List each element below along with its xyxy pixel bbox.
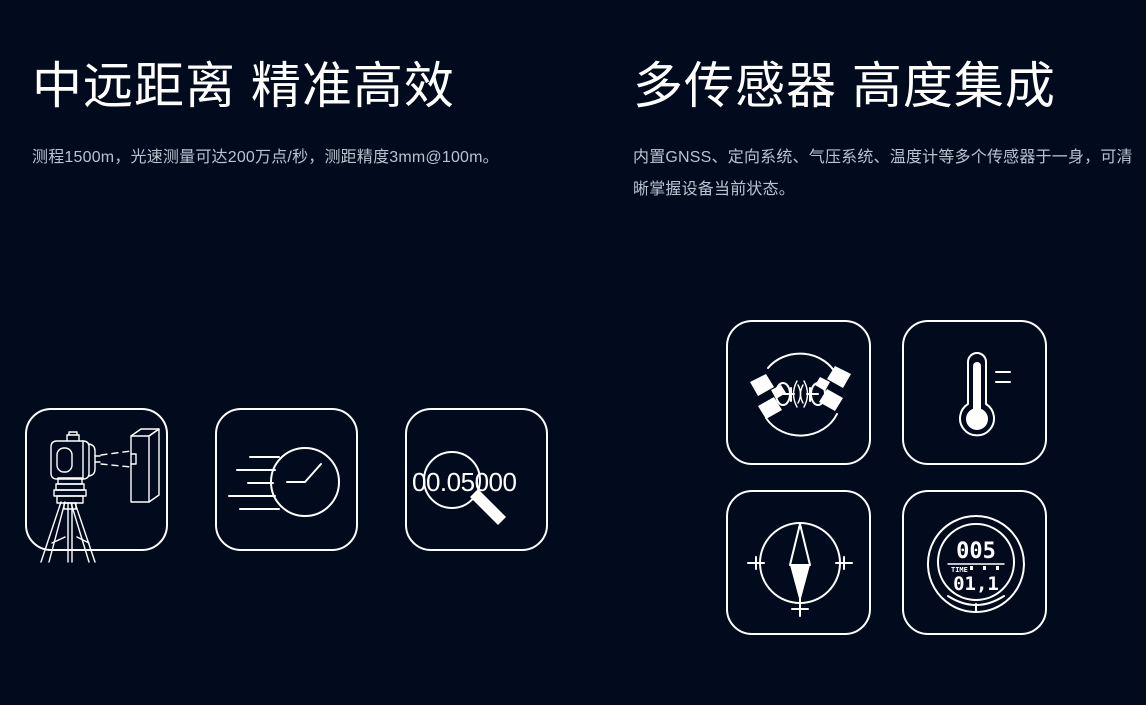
left-text-column: 中远距离 精准高效 测程1500m，光速测量可达200万点/秒，测距精度3mm@… [32, 58, 552, 174]
right-body-text: 内置GNSS、定向系统、气压系统、温度计等多个传感器于一身，可清晰掌握设备当前状… [633, 114, 1133, 206]
gnss-satellite-icon [726, 320, 871, 465]
thermometer-icon [902, 320, 1047, 465]
barometer-gauge-icon: 005 TIME 01,1 [902, 490, 1047, 635]
feature-panel: 中远距离 精准高效 测程1500m，光速测量可达200万点/秒，测距精度3mm@… [0, 0, 1146, 705]
laser-scanner-tripod-icon [25, 408, 168, 551]
gauge-top-value: 005 [956, 539, 996, 564]
right-text-column: 多传感器 高度集成 内置GNSS、定向系统、气压系统、温度计等多个传感器于一身，… [633, 58, 1133, 206]
left-body-text: 测程1500m，光速测量可达200万点/秒，测距精度3mm@100m。 [32, 114, 552, 174]
magnifier-precision-icon: 00.05000 [405, 408, 548, 551]
left-heading: 中远距离 精准高效 [32, 58, 552, 114]
right-heading: 多传感器 高度集成 [633, 58, 1133, 114]
speed-clock-icon [215, 408, 358, 551]
gauge-bottom-value: 01,1 [953, 573, 999, 595]
compass-icon [726, 490, 871, 635]
